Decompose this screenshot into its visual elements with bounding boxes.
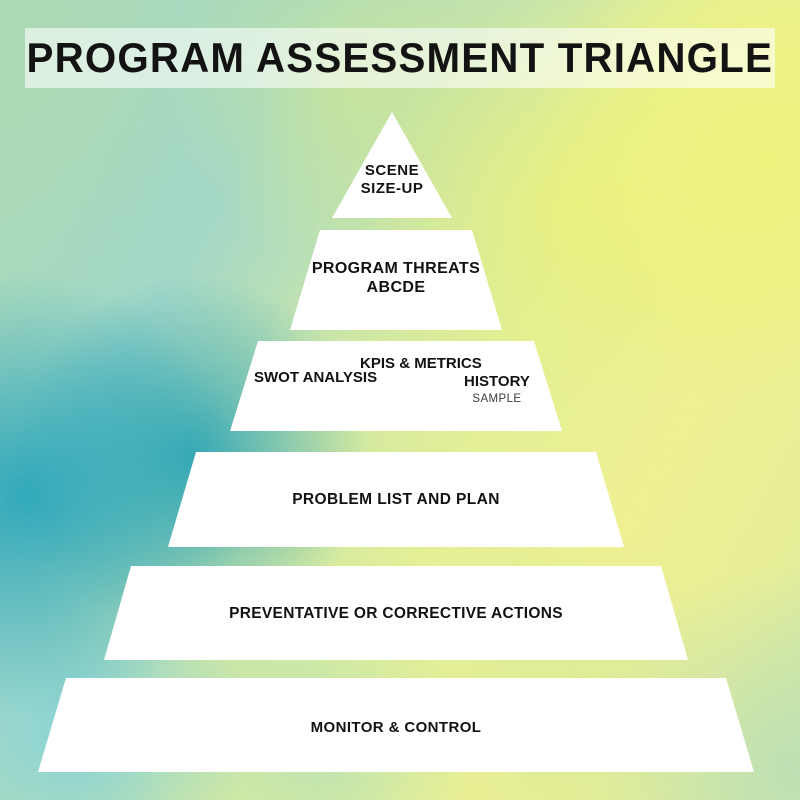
tier-3-label-group: SWOT ANALYSIS KPIS & METRICS HISTORY SAM… [232, 341, 568, 431]
tier-1-line-2: SIZE-UP [361, 180, 424, 198]
tier-6-line-1: MONITOR & CONTROL [311, 719, 482, 737]
tier-3-kpis-line-3: METRICS [414, 355, 482, 372]
poster-canvas: PROGRAM ASSESSMENT TRIANGLE SCENE SIZE-U… [0, 0, 800, 800]
tier-2-label: PROGRAM THREATS ABCDE [290, 248, 502, 310]
tier-5-label: PREVENTATIVE OR CORRECTIVE ACTIONS [104, 594, 688, 634]
tier-1-label: SCENE SIZE-UP [332, 150, 452, 210]
tier-2-line-1: PROGRAM THREATS [312, 260, 480, 279]
tier-6-label: MONITOR & CONTROL [38, 708, 754, 748]
tier-2-line-2: ABCDE [367, 279, 426, 298]
tier-3-kpis-line-1: KPIS [360, 355, 395, 372]
tier-3-kpis-label: KPIS & METRICS [360, 355, 482, 373]
tier-4-line-1: PROBLEM LIST AND PLAN [292, 491, 500, 509]
tier-3-history-sublabel: SAMPLE [464, 393, 530, 407]
tier-3-history-line-1: HISTORY [464, 373, 530, 390]
tier-3-swot-line-1: SWOT [254, 369, 299, 386]
tier-3-swot-label: SWOT ANALYSIS [254, 369, 377, 387]
tier-3-kpis-line-2: & [399, 355, 410, 372]
tier-4-label: PROBLEM LIST AND PLAN [168, 480, 624, 520]
tier-1-line-1: SCENE [365, 162, 419, 180]
tier-5-line-1: PREVENTATIVE OR CORRECTIVE ACTIONS [229, 605, 563, 623]
tier-3-history-label: HISTORY SAMPLE [464, 373, 530, 407]
